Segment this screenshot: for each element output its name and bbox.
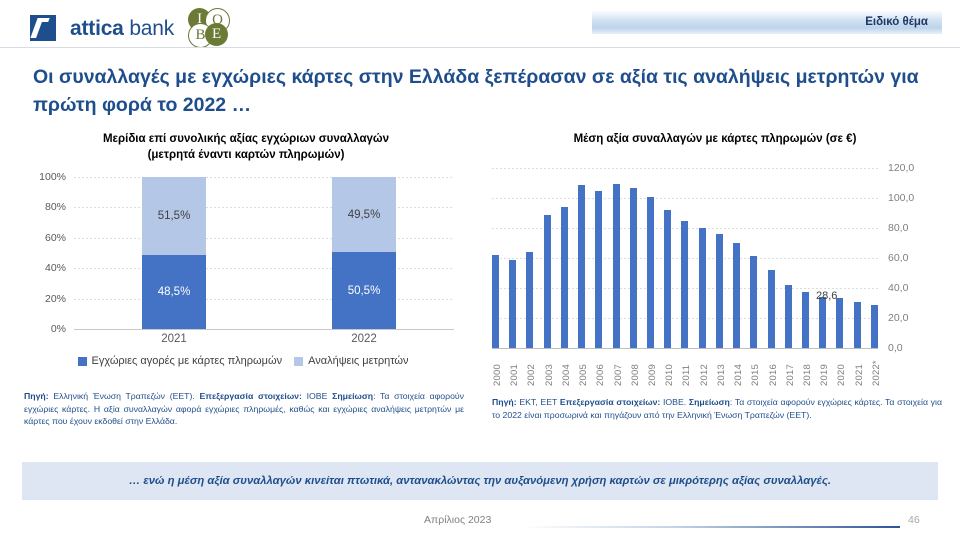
left-chart-y-axis: 0%20%40%60%80%100%: [28, 177, 70, 329]
left-chart-bar-group: 51,5%48,5%: [142, 177, 206, 329]
legend-label: Εγχώριες αγορές με κάρτες πληρωμών: [92, 355, 283, 367]
right-chart-bar: [664, 210, 671, 347]
right-chart-x-tick: 2017: [785, 350, 792, 386]
right-chart-bar: [561, 207, 568, 347]
right-chart-x-tick: 2007: [613, 350, 620, 386]
legend-label: Αναλήψεις μετρητών: [308, 355, 408, 367]
left-chart-x-tick: 2022: [332, 333, 396, 345]
right-chart-bar: [492, 255, 499, 347]
left-chart-gridline: [74, 329, 454, 330]
callout-box: … ενώ η μέση αξία συναλλαγών κινείται πτ…: [22, 462, 938, 500]
left-note-label: Σημείωση: [332, 391, 373, 401]
right-chart-y-tick: 0,0: [888, 342, 903, 354]
logo-group: attica bank I O B E: [30, 8, 240, 48]
right-processing-value: ΙΟΒΕ.: [660, 397, 689, 407]
right-chart-x-tick: 2020: [836, 350, 843, 386]
left-chart-title: Μερίδια επί συνολικής αξίας εγχώριων συν…: [22, 132, 470, 163]
right-chart-plot-area: [492, 168, 878, 348]
right-processing-label: Επεξεργασία στοιχείων:: [560, 397, 660, 407]
right-chart-x-tick: 2016: [768, 350, 775, 386]
right-chart-bar: [819, 297, 826, 347]
right-chart-x-tick: 2006: [595, 350, 602, 386]
left-chart-y-tick: 40%: [45, 262, 66, 274]
right-chart-gridline: [492, 348, 878, 349]
legend-item[interactable]: Αναλήψεις μετρητών: [294, 355, 408, 367]
right-chart-x-tick: 2009: [647, 350, 654, 386]
right-chart-bar: [544, 215, 551, 348]
right-chart-bar: [785, 285, 792, 347]
left-chart-panel: Μερίδια επί συνολικής αξίας εγχώριων συν…: [22, 132, 470, 363]
right-chart-x-tick: 2004: [561, 350, 568, 386]
right-chart-bar: [613, 184, 620, 348]
left-chart-title-line2: (μετρητά έναντι καρτών πληρωμών): [22, 148, 470, 164]
right-chart-bar: [699, 228, 706, 348]
left-chart-segment-withdrawals: 49,5%: [332, 177, 396, 252]
slide: attica bank I O B E Ειδικό θέμα Οι συναλ…: [0, 0, 960, 540]
left-source-value: Ελληνική Ένωση Τραπεζών (ΕΕΤ).: [49, 391, 200, 401]
right-chart-x-tick: 2015: [750, 350, 757, 386]
left-processing-value: ΙΟΒΕ: [302, 391, 327, 401]
right-chart-bar: [647, 197, 654, 348]
right-chart-x-tick: 2022*: [871, 350, 878, 386]
left-chart-x-axis: 20212022: [74, 333, 454, 351]
attica-bank-logo-icon: [30, 15, 56, 41]
left-chart-bars: 51,5%48,5%49,5%50,5%: [74, 177, 454, 329]
footer-divider: [520, 526, 900, 528]
right-chart-bars: [492, 168, 878, 348]
stacked-bar-chart: 0%20%40%60%80%100% 51,5%48,5%49,5%50,5% …: [28, 169, 458, 363]
left-chart-x-tick: 2021: [142, 333, 206, 345]
right-chart-bar: [836, 298, 843, 348]
footer-date: Απρίλιος 2023: [424, 514, 491, 526]
right-chart-bar: [509, 260, 516, 348]
right-chart-x-tick: 2010: [664, 350, 671, 386]
right-chart-x-tick: 2011: [681, 350, 688, 386]
right-chart-x-tick: 2018: [802, 350, 809, 386]
right-chart-bar: [578, 185, 585, 348]
topic-banner: Ειδικό θέμα: [592, 10, 942, 34]
right-chart-y-tick: 40,0: [888, 282, 908, 294]
right-chart-bar: [681, 221, 688, 348]
right-chart-x-tick: 2002: [526, 350, 533, 386]
right-chart-bar: [595, 191, 602, 348]
right-source-note: Πηγή: ΕΚΤ, ΕΕΤ Επεξεργασία στοιχείων: ΙΟ…: [492, 396, 942, 421]
right-chart-bar: [526, 252, 533, 348]
right-chart-bar: [716, 234, 723, 348]
right-chart-x-tick: 2003: [544, 350, 551, 386]
right-chart-bar: [854, 302, 861, 348]
right-chart-x-tick: 2013: [716, 350, 723, 386]
left-chart-legend: Εγχώριες αγορές με κάρτες πληρωμώνΑναλήψ…: [28, 355, 458, 367]
right-chart-x-tick: 2012: [699, 350, 706, 386]
left-chart-y-tick: 100%: [39, 171, 66, 183]
legend-item[interactable]: Εγχώριες αγορές με κάρτες πληρωμών: [78, 355, 283, 367]
right-chart-bar: [768, 270, 775, 347]
right-source-value: ΕΚΤ, ΕΕΤ: [517, 397, 560, 407]
left-source-note: Πηγή: Ελληνική Ένωση Τραπεζών (ΕΕΤ). Επε…: [24, 390, 464, 428]
left-processing-label: Επεξεργασία στοιχείων:: [200, 391, 302, 401]
right-chart-bar: [630, 188, 637, 348]
right-chart-y-tick: 60,0: [888, 252, 908, 264]
right-chart-bar: [871, 305, 878, 348]
left-chart-y-tick: 20%: [45, 293, 66, 305]
header-divider: [0, 47, 960, 48]
right-chart-x-tick: 2001: [509, 350, 516, 386]
right-chart-x-tick: 2008: [630, 350, 637, 386]
right-chart-x-tick: 2014: [733, 350, 740, 386]
left-chart-segment-cardpurchases: 48,5%: [142, 255, 206, 329]
right-chart-y-tick: 80,0: [888, 222, 908, 234]
right-chart-x-tick: 2019: [819, 350, 826, 386]
right-note-label: Σημείωση: [689, 397, 730, 407]
legend-swatch-icon: [78, 357, 87, 366]
right-chart-panel: Μέση αξία συναλλαγών με κάρτες πληρωμών …: [486, 132, 944, 386]
slide-header: attica bank I O B E Ειδικό θέμα: [0, 0, 960, 48]
right-chart-title: Μέση αξία συναλλαγών με κάρτες πληρωμών …: [486, 132, 944, 148]
right-chart-y-tick: 100,0: [888, 192, 914, 204]
footer-page-number: 46: [908, 514, 920, 526]
right-chart-x-tick: 2005: [578, 350, 585, 386]
brand-name-primary: attica: [70, 17, 124, 40]
right-chart-x-tick: 2021: [854, 350, 861, 386]
right-chart-data-label: 28,6: [816, 290, 837, 302]
right-chart-bar: [733, 243, 740, 348]
left-chart-segment-cardpurchases: 50,5%: [332, 252, 396, 329]
right-chart-x-axis: 2000200120022003200420052006200720082009…: [492, 350, 878, 386]
left-chart-y-tick: 0%: [51, 323, 66, 335]
right-chart-y-axis: 0,020,040,060,080,0100,0120,0: [882, 168, 938, 348]
right-chart-bar: [750, 256, 757, 348]
column-chart: 0,020,040,060,080,0100,0120,0 2000200120…: [486, 154, 944, 386]
left-source-label: Πηγή:: [24, 391, 49, 401]
attica-bank-wordmark: attica bank: [70, 18, 174, 39]
brand-name-secondary: bank: [129, 17, 174, 40]
right-chart-y-tick: 20,0: [888, 312, 908, 324]
right-chart-x-tick: 2000: [492, 350, 499, 386]
right-chart-bar: [802, 292, 809, 348]
callout-text: … ενώ η μέση αξία συναλλαγών κινείται πτ…: [22, 475, 938, 487]
left-chart-segment-withdrawals: 51,5%: [142, 177, 206, 255]
topic-label: Ειδικό θέμα: [865, 16, 942, 28]
right-chart-y-tick: 120,0: [888, 162, 914, 174]
right-source-label: Πηγή:: [492, 397, 517, 407]
left-chart-title-line1: Μερίδια επί συνολικής αξίας εγχώριων συν…: [22, 132, 470, 148]
slide-footer: Απρίλιος 2023 46: [0, 508, 960, 540]
legend-swatch-icon: [294, 357, 303, 366]
page-title: Οι συναλλαγές με εγχώριες κάρτες στην Ελ…: [33, 64, 933, 119]
iobe-logo-icon: I O B E: [188, 8, 240, 48]
left-chart-y-tick: 80%: [45, 201, 66, 213]
left-chart-bar-group: 49,5%50,5%: [332, 177, 396, 329]
left-chart-y-tick: 60%: [45, 232, 66, 244]
iobe-letter-e: E: [205, 23, 228, 46]
